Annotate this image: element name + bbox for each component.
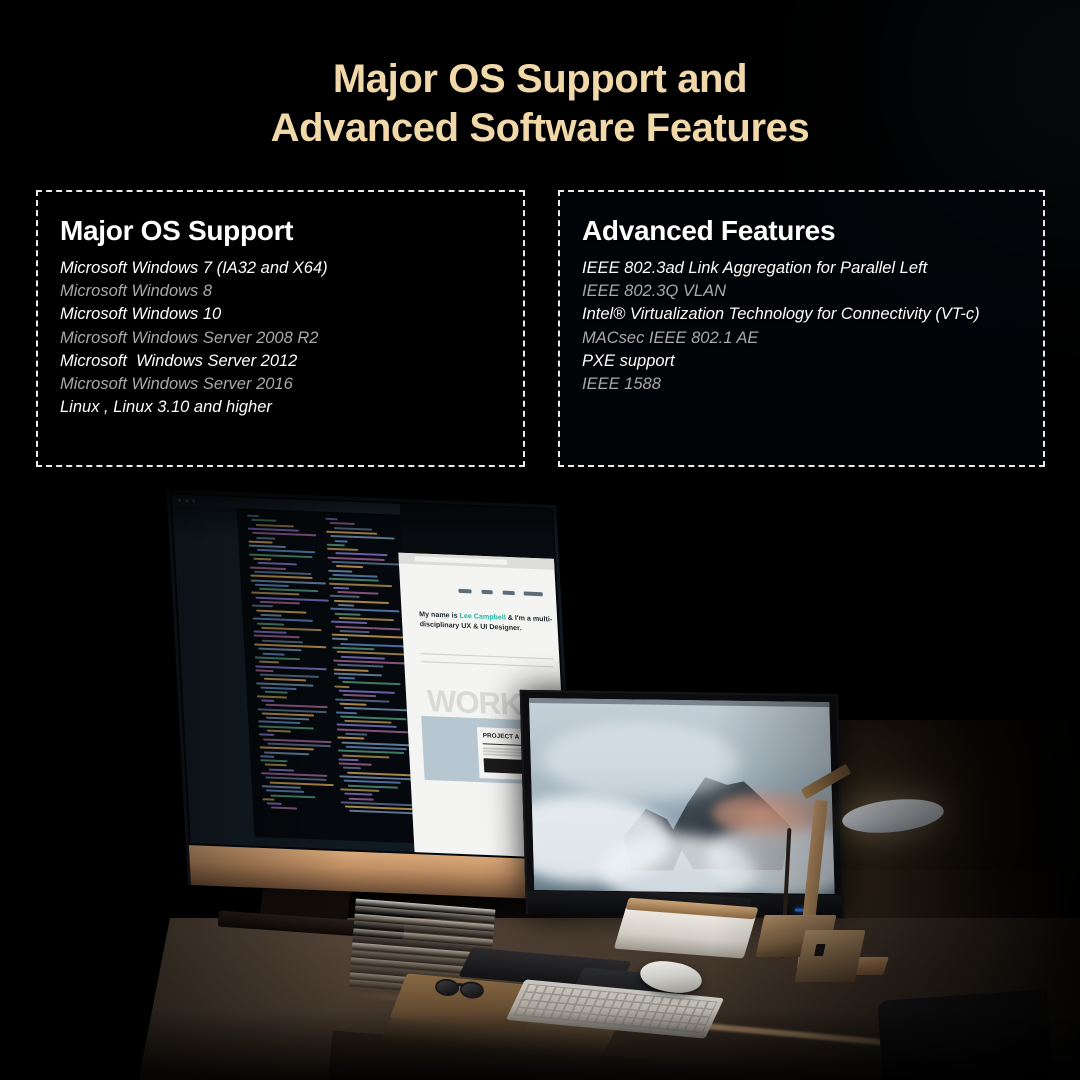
advanced-feature-item: IEEE 1588 (582, 373, 1029, 396)
panel-right-heading: Advanced Features (582, 215, 1043, 247)
panel-left-heading: Major OS Support (60, 215, 523, 247)
os-support-list: Microsoft Windows 7 (IA32 and X64)Micros… (38, 257, 523, 419)
advanced-feature-item: IEEE 802.3ad Link Aggregation for Parall… (582, 257, 1029, 280)
page-title: Major OS Support and Advanced Software F… (0, 55, 1080, 153)
page-title-line-2: Advanced Software Features (0, 104, 1080, 153)
panel-advanced-features: Advanced Features IEEE 802.3ad Link Aggr… (558, 190, 1045, 467)
desk-workspace-photo: My name is Lee Campbell & I'm a multi-di… (0, 470, 1080, 1080)
advanced-features-list: IEEE 802.3ad Link Aggregation for Parall… (560, 257, 1043, 396)
panel-major-os-support: Major OS Support Microsoft Windows 7 (IA… (36, 190, 525, 467)
os-support-item: Microsoft Windows 10 (60, 303, 509, 326)
advanced-feature-item: IEEE 802.3Q VLAN (582, 280, 1029, 303)
photo-bottom-fade (0, 1010, 1080, 1080)
advanced-feature-item: PXE support (582, 350, 1029, 373)
poster-canvas: My name is Lee Campbell & I'm a multi-di… (0, 0, 1080, 1080)
os-support-item: Microsoft Windows 8 (60, 280, 509, 303)
photo-side-shading (0, 470, 1080, 1080)
os-support-item: Microsoft Windows Server 2016 (60, 373, 509, 396)
photo-top-fade (0, 470, 1080, 540)
os-support-item: Microsoft Windows Server 2012 (60, 350, 509, 373)
os-support-item: Microsoft Windows Server 2008 R2 (60, 327, 509, 350)
os-support-item: Linux , Linux 3.10 and higher (60, 396, 509, 419)
page-title-line-1: Major OS Support and (0, 55, 1080, 104)
advanced-feature-item: Intel® Virtualization Technology for Con… (582, 303, 1029, 326)
os-support-item: Microsoft Windows 7 (IA32 and X64) (60, 257, 509, 280)
advanced-feature-item: MACsec IEEE 802.1 AE (582, 327, 1029, 350)
